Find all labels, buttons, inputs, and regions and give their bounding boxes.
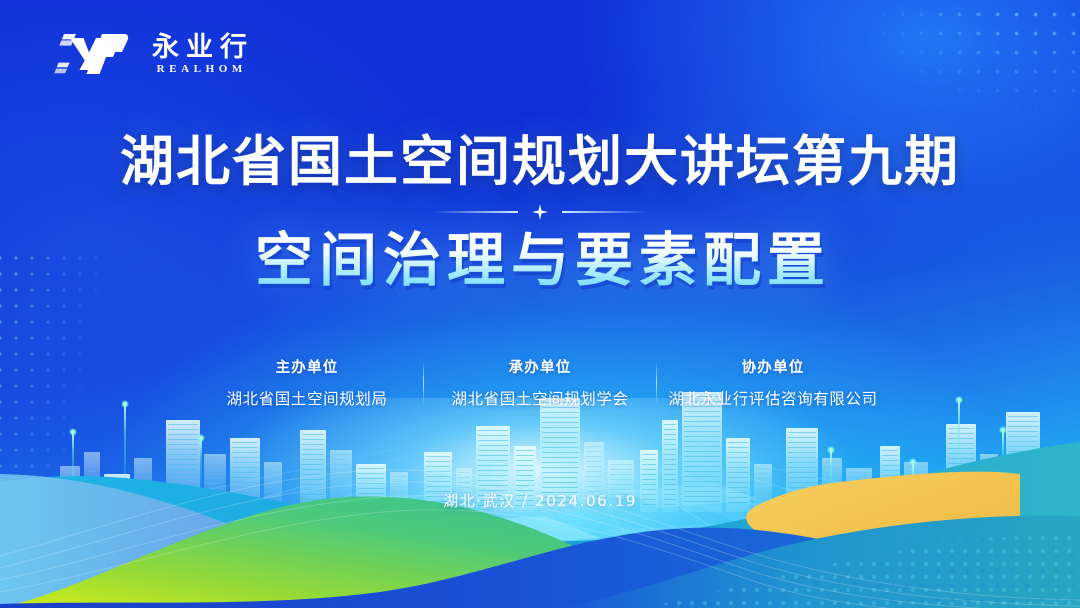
page-subtitle: 空间治理与要素配置 xyxy=(0,226,1080,294)
divider-line-right xyxy=(562,211,648,213)
divider-line-left xyxy=(432,211,518,213)
organizer-role: 主办单位 xyxy=(201,358,413,380)
organizer-co-host: 承办单位 湖北省国土空间规划学会 xyxy=(424,358,656,409)
brand-name-en: REALHOM xyxy=(152,63,247,75)
brand-logo[interactable]: 永业行 REALHOM xyxy=(46,28,254,80)
organizer-supporter: 协办单位 湖北永业行评估咨询有限公司 xyxy=(657,358,889,409)
title-divider xyxy=(0,204,1080,220)
brand-wordmark: 永业行 REALHOM xyxy=(145,33,254,75)
organizer-name: 湖北永业行评估咨询有限公司 xyxy=(667,387,879,409)
venue-date: 湖北·武汉 / 2024.06.19 xyxy=(0,490,1080,511)
organizer-name: 湖北省国土空间规划局 xyxy=(201,387,413,409)
event-poster: 永业行 REALHOM 湖北省国土空间规划大讲坛第九期 空间治理与要素配置 主办… xyxy=(0,0,1080,608)
page-title: 湖北省国土空间规划大讲坛第九期 xyxy=(0,132,1080,192)
organizer-name: 湖北省国土空间规划学会 xyxy=(434,387,646,409)
yh-monogram-icon xyxy=(46,28,132,80)
organizer-role: 协办单位 xyxy=(667,358,879,380)
brand-name-cn: 永业行 xyxy=(145,33,254,62)
organizer-host: 主办单位 湖北省国土空间规划局 xyxy=(191,358,423,409)
four-point-star-icon xyxy=(532,204,548,220)
organizer-role: 承办单位 xyxy=(434,358,646,380)
wave-ribbon-icon xyxy=(0,418,1080,608)
headline-block: 湖北省国土空间规划大讲坛第九期 空间治理与要素配置 xyxy=(0,132,1080,295)
organizers-row: 主办单位 湖北省国土空间规划局 承办单位 湖北省国土空间规划学会 协办单位 湖北… xyxy=(0,358,1080,409)
